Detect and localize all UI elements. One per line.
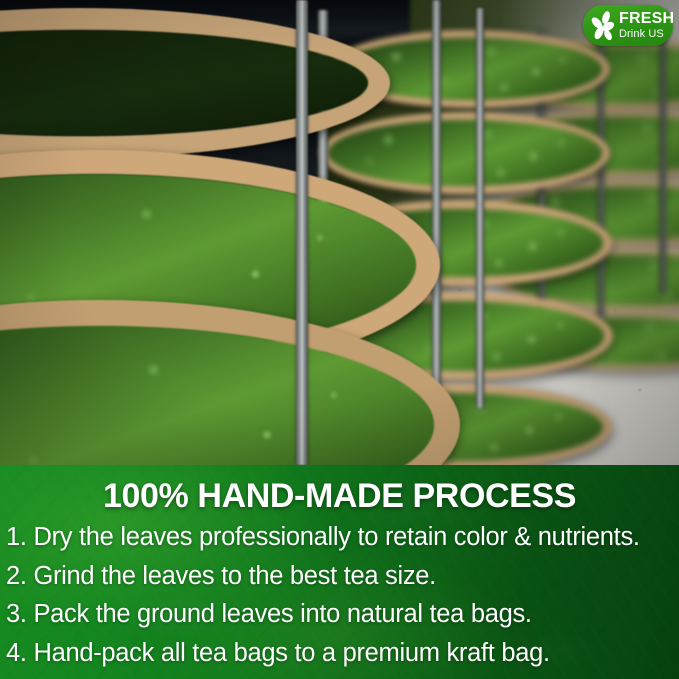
logo-line-drink-us: Drink US — [619, 29, 674, 40]
page-title: 100% HAND-MADE PROCESS — [0, 465, 679, 516]
product-infographic: FRESH Drink US 100% HAND-MADE PROCESS 1.… — [0, 0, 679, 679]
photo-vignette — [0, 0, 679, 465]
process-steps-list: 1. Dry the leaves professionally to reta… — [0, 516, 679, 679]
logo-line-fresh: FRESH — [619, 11, 674, 27]
tea-processing-photo: FRESH Drink US — [0, 0, 679, 465]
process-text-band: 100% HAND-MADE PROCESS 1. Dry the leaves… — [0, 465, 679, 679]
list-item: 4. Hand-pack all tea bags to a premium k… — [6, 641, 679, 679]
band-content: 100% HAND-MADE PROCESS 1. Dry the leaves… — [0, 465, 679, 679]
brand-logo[interactable]: FRESH Drink US — [583, 5, 673, 46]
list-item: 1. Dry the leaves professionally to reta… — [6, 525, 679, 564]
list-item: 2. Grind the leaves to the best tea size… — [6, 564, 679, 603]
logo-wordmark: FRESH Drink US — [619, 11, 674, 40]
leaf-cluster-icon — [587, 10, 618, 41]
list-item: 3. Pack the ground leaves into natural t… — [6, 602, 679, 641]
